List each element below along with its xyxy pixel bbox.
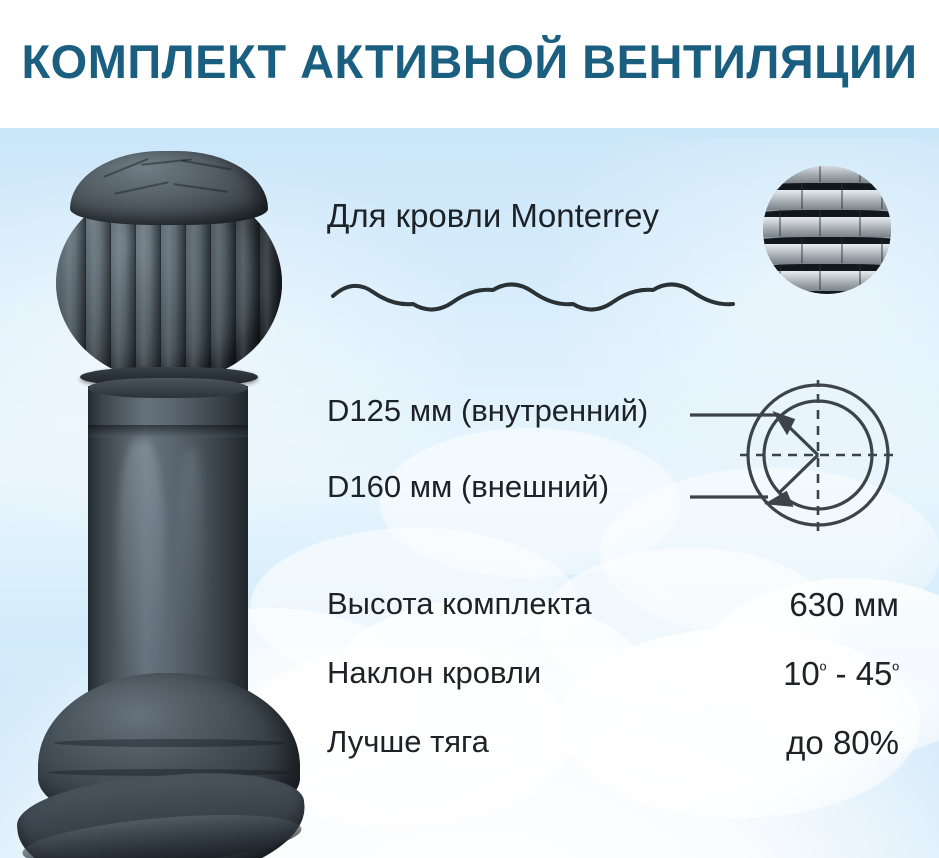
draft-improvement-value: до 80% (786, 724, 899, 762)
outer-diameter-label: D160 мм (внешний) (327, 469, 609, 505)
spec-content: Для кровли Monterrey (0, 0, 939, 858)
spec-row: Высота комплекта 630 мм (327, 586, 899, 630)
roof-pitch-value: 10º - 45º (783, 655, 899, 693)
roof-compat-label: Для кровли Monterrey (327, 197, 659, 235)
draft-improvement-label: Лучше тяга (327, 724, 489, 760)
roof-pitch-label: Наклон кровли (327, 655, 541, 691)
kit-height-value: 630 мм (789, 586, 899, 624)
spec-row: Наклон кровли 10º - 45º (327, 655, 899, 699)
kit-height-label: Высота комплекта (327, 586, 592, 622)
inner-diameter-label: D125 мм (внутренний) (327, 393, 648, 429)
infographic-page: Для кровли Monterrey (0, 0, 939, 858)
spec-row: Лучше тяга до 80% (327, 724, 899, 768)
roof-tile-icon (763, 166, 891, 294)
header-band: КОМПЛЕКТ АКТИВНОЙ ВЕНТИЛЯЦИИ (0, 0, 939, 128)
wave-profile-icon (327, 270, 747, 326)
diameter-diagram (690, 380, 910, 540)
page-title: КОМПЛЕКТ АКТИВНОЙ ВЕНТИЛЯЦИИ (0, 34, 939, 89)
